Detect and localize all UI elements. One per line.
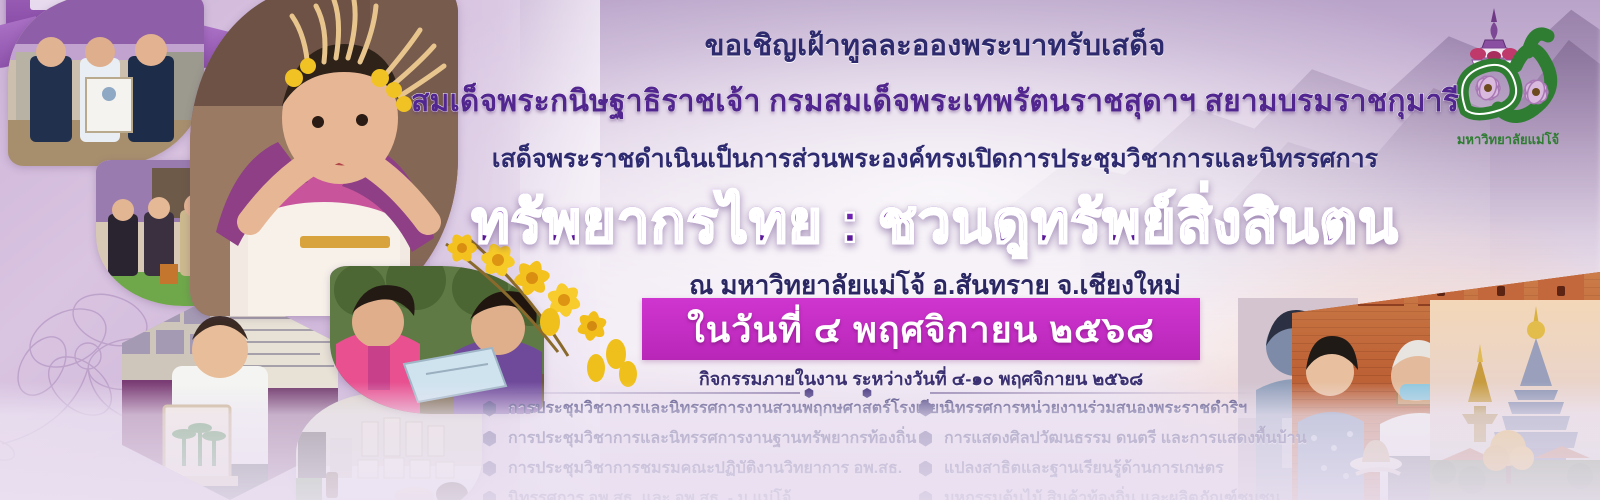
flower-icon	[1474, 74, 1503, 102]
date-main-text: ในวันที่ ๔ พฤศจิกายน ๒๕๖๘	[687, 301, 1155, 358]
headline-line-3: เสด็จพระราชดำเนินเป็นการส่วนพระองค์ทรงเป…	[492, 139, 1378, 179]
photo-award-ceremony	[8, 0, 204, 166]
headline-line-2: สมเด็จพระกนิษฐาธิราชเจ้า กรมสมเด็จพระเทพ…	[411, 78, 1459, 125]
bottom-fade-strip	[0, 382, 1600, 500]
date-banner: ในวันที่ ๔ พฤศจิกายน ๒๕๖๘	[642, 298, 1200, 360]
event-banner: มหาวิทยาลัยแม่โจ้ ขอเชิญเฝ้าทูลละอองพระบ…	[0, 0, 1600, 500]
logo-caption: มหาวิทยาลัยแม่โจ้	[1457, 131, 1559, 147]
event-title: ทรัพยากรไทย : ชวนดูทรัพย์สิ่งสินตน	[471, 189, 1398, 257]
headline-line-1: ขอเชิญเฝ้าทูลละอองพระบาทรับเสด็จ	[705, 22, 1166, 68]
headline-block: ขอเชิญเฝ้าทูลละอองพระบาทรับเสด็จ สมเด็จพ…	[430, 0, 1440, 300]
